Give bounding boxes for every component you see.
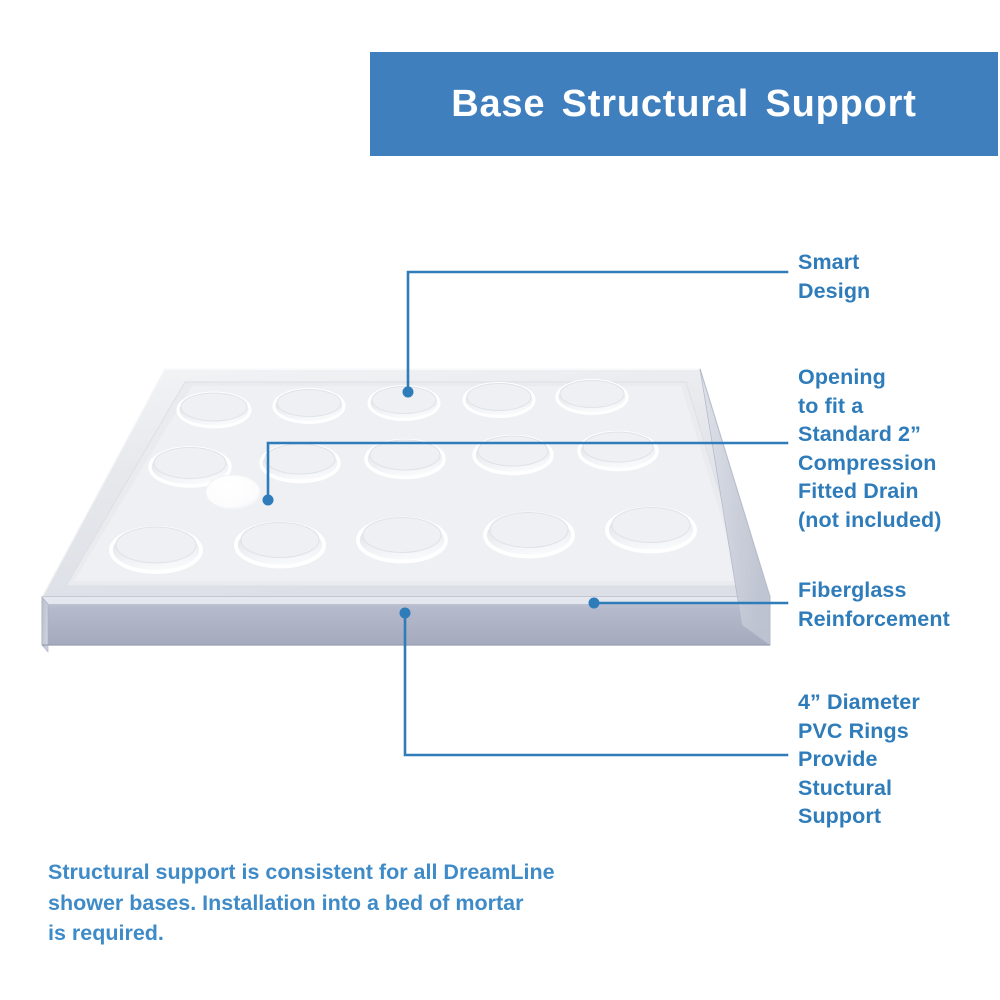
pvc-ring bbox=[111, 527, 201, 572]
pvc-ring bbox=[236, 523, 324, 567]
callout-label-fiberglass: Fiberglass Reinforcement bbox=[798, 576, 998, 633]
pvc-ring bbox=[474, 436, 552, 474]
pvc-ring bbox=[274, 390, 344, 423]
page-title: Base Structural Support bbox=[451, 83, 916, 126]
pvc-ring bbox=[485, 513, 573, 557]
callout-label-smart-design: Smart Design bbox=[798, 248, 998, 305]
leader-dot-fiberglass bbox=[589, 598, 600, 609]
drain-opening-hole bbox=[206, 475, 260, 509]
callout-label-pvc-rings: 4” Diameter PVC Rings Provide Stuctural … bbox=[798, 688, 998, 831]
infographic-page: Base Structural Support Smart Design Ope… bbox=[0, 0, 1000, 1000]
leader-dot-pvc-rings bbox=[400, 608, 411, 619]
callout-label-drain-opening: Opening to fit a Standard 2” Compression… bbox=[798, 363, 998, 535]
pvc-ring bbox=[366, 440, 444, 478]
leader-dot-drain-opening bbox=[263, 495, 274, 506]
leader-dot-smart-design bbox=[403, 387, 414, 398]
pvc-ring bbox=[557, 381, 627, 414]
pvc-ring bbox=[358, 518, 446, 562]
pvc-ring bbox=[607, 508, 695, 552]
pvc-ring bbox=[464, 384, 534, 417]
pvc-ring bbox=[579, 432, 657, 470]
footer-caption: Structural support is consistent for all… bbox=[48, 857, 648, 949]
pvc-ring bbox=[178, 393, 250, 427]
header-banner: Base Structural Support bbox=[370, 52, 998, 156]
base-left-face bbox=[42, 597, 48, 652]
pvc-ring bbox=[261, 444, 339, 482]
